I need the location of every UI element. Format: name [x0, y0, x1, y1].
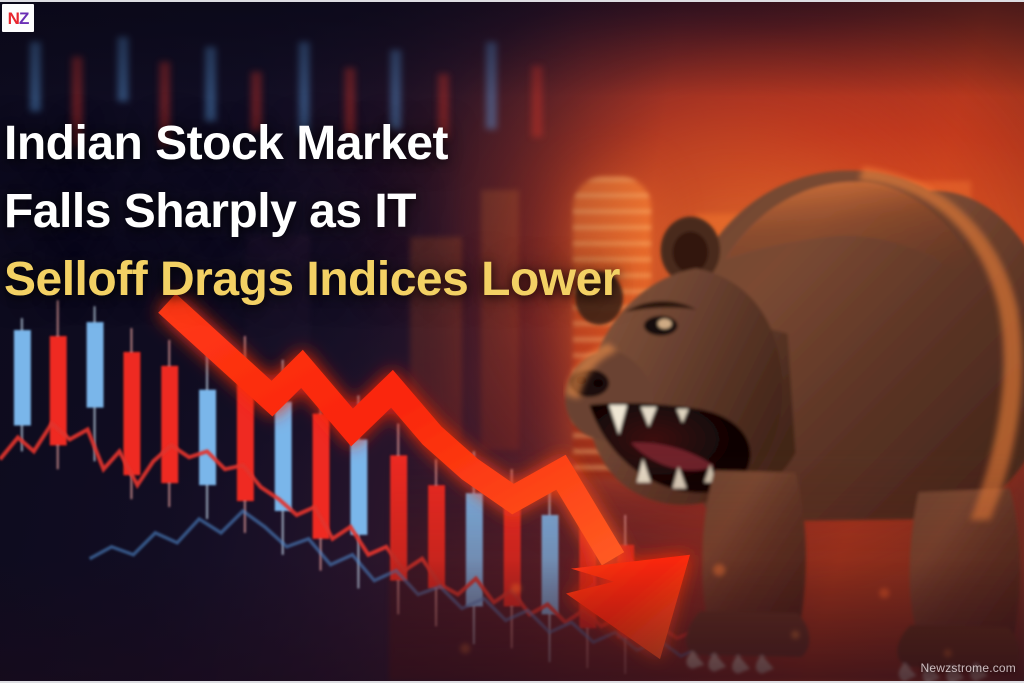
edge-vignette [0, 2, 1024, 681]
logo-text: NZ [8, 10, 29, 27]
watermark: Newzstrome.com [921, 661, 1016, 675]
logo-letter-n: N [8, 9, 19, 28]
headline-line-1: Indian Stock Market [4, 110, 664, 178]
site-logo[interactable]: NZ [2, 4, 34, 32]
headline-line-3: Selloff Drags Indices Lower [4, 246, 664, 314]
news-thumbnail-image: Indian Stock Market Falls Sharply as IT … [0, 0, 1024, 683]
headline-line-2: Falls Sharply as IT [4, 178, 664, 246]
headline: Indian Stock Market Falls Sharply as IT … [4, 110, 664, 314]
logo-letter-z: Z [19, 9, 28, 28]
